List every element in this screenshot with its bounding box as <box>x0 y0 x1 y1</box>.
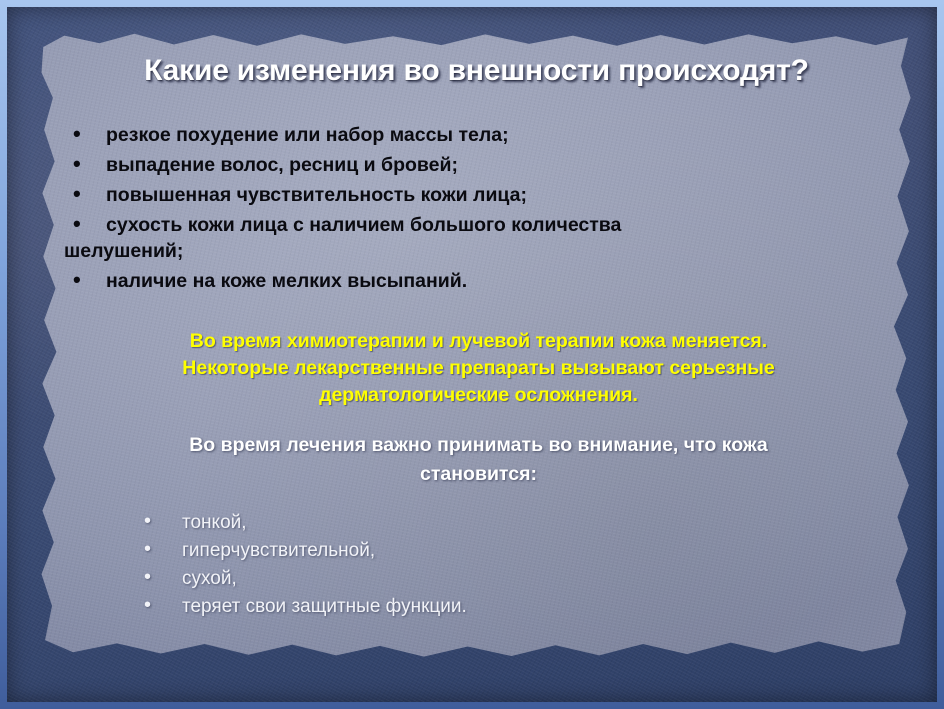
bullet-icon: • <box>73 121 81 147</box>
slide-canvas: Какие изменения во внешности происходят?… <box>0 0 944 709</box>
list-item-label: сухой, <box>182 568 237 589</box>
list-item-label: гиперчувствительной, <box>182 540 375 561</box>
list-item-label: резкое похудение или набор массы тела; <box>106 124 509 146</box>
yellow-note-line-2: Некоторые лекарственные препараты вызыва… <box>56 355 901 382</box>
bullet-icon: • <box>73 267 81 293</box>
symptoms-list: • резкое похудение или набор массы тела;… <box>64 122 897 298</box>
yellow-note-line-1: Во время химиотерапии и лучевой терапии … <box>56 328 901 355</box>
bullet-icon: • <box>144 563 151 591</box>
bullet-icon: • <box>73 211 81 237</box>
yellow-highlight-note: Во время химиотерапии и лучевой терапии … <box>56 328 901 409</box>
list-item: • выпадение волос, ресниц и бровей; <box>64 152 897 178</box>
bullet-icon: • <box>144 535 151 563</box>
list-item: • повышенная чувствительность кожи лица; <box>64 182 897 208</box>
list-item: • наличие на коже мелких высыпаний. <box>64 268 897 294</box>
white-note-line-2: становится: <box>68 460 889 489</box>
bullet-icon: • <box>73 181 81 207</box>
page-title: Какие изменения во внешности происходят? <box>38 54 915 88</box>
list-item-label: тонкой, <box>182 512 247 533</box>
list-item: • тонкой, <box>138 509 895 537</box>
list-item: • сухой, <box>138 565 895 593</box>
slide-content: Какие изменения во внешности происходят?… <box>38 28 915 663</box>
bullet-icon: • <box>144 507 151 535</box>
list-item: • теряет свои защитные функции. <box>138 593 895 621</box>
list-item: • гиперчувствительной, <box>138 537 895 565</box>
list-item-label: наличие на коже мелких высыпаний. <box>106 270 467 292</box>
list-item: • сухость кожи лица с наличием большого … <box>64 212 897 264</box>
list-item-label: повышенная чувствительность кожи лица; <box>106 184 527 206</box>
list-item: • резкое похудение или набор массы тела; <box>64 122 897 148</box>
list-item-continuation: шелушений; <box>64 238 897 264</box>
list-item-label: теряет свои защитные функции. <box>182 596 467 617</box>
bullet-icon: • <box>73 151 81 177</box>
skin-properties-list: • тонкой, • гиперчувствительной, • сухой… <box>138 509 895 621</box>
yellow-note-line-3: дерматологические осложнения. <box>56 382 901 409</box>
white-note-line-1: Во время лечения важно принимать во вним… <box>68 431 889 460</box>
white-emphasis-note: Во время лечения важно принимать во вним… <box>68 431 889 489</box>
list-item-label: сухость кожи лица с наличием большого ко… <box>106 212 897 238</box>
bullet-icon: • <box>144 591 151 619</box>
list-item-label: выпадение волос, ресниц и бровей; <box>106 154 458 176</box>
